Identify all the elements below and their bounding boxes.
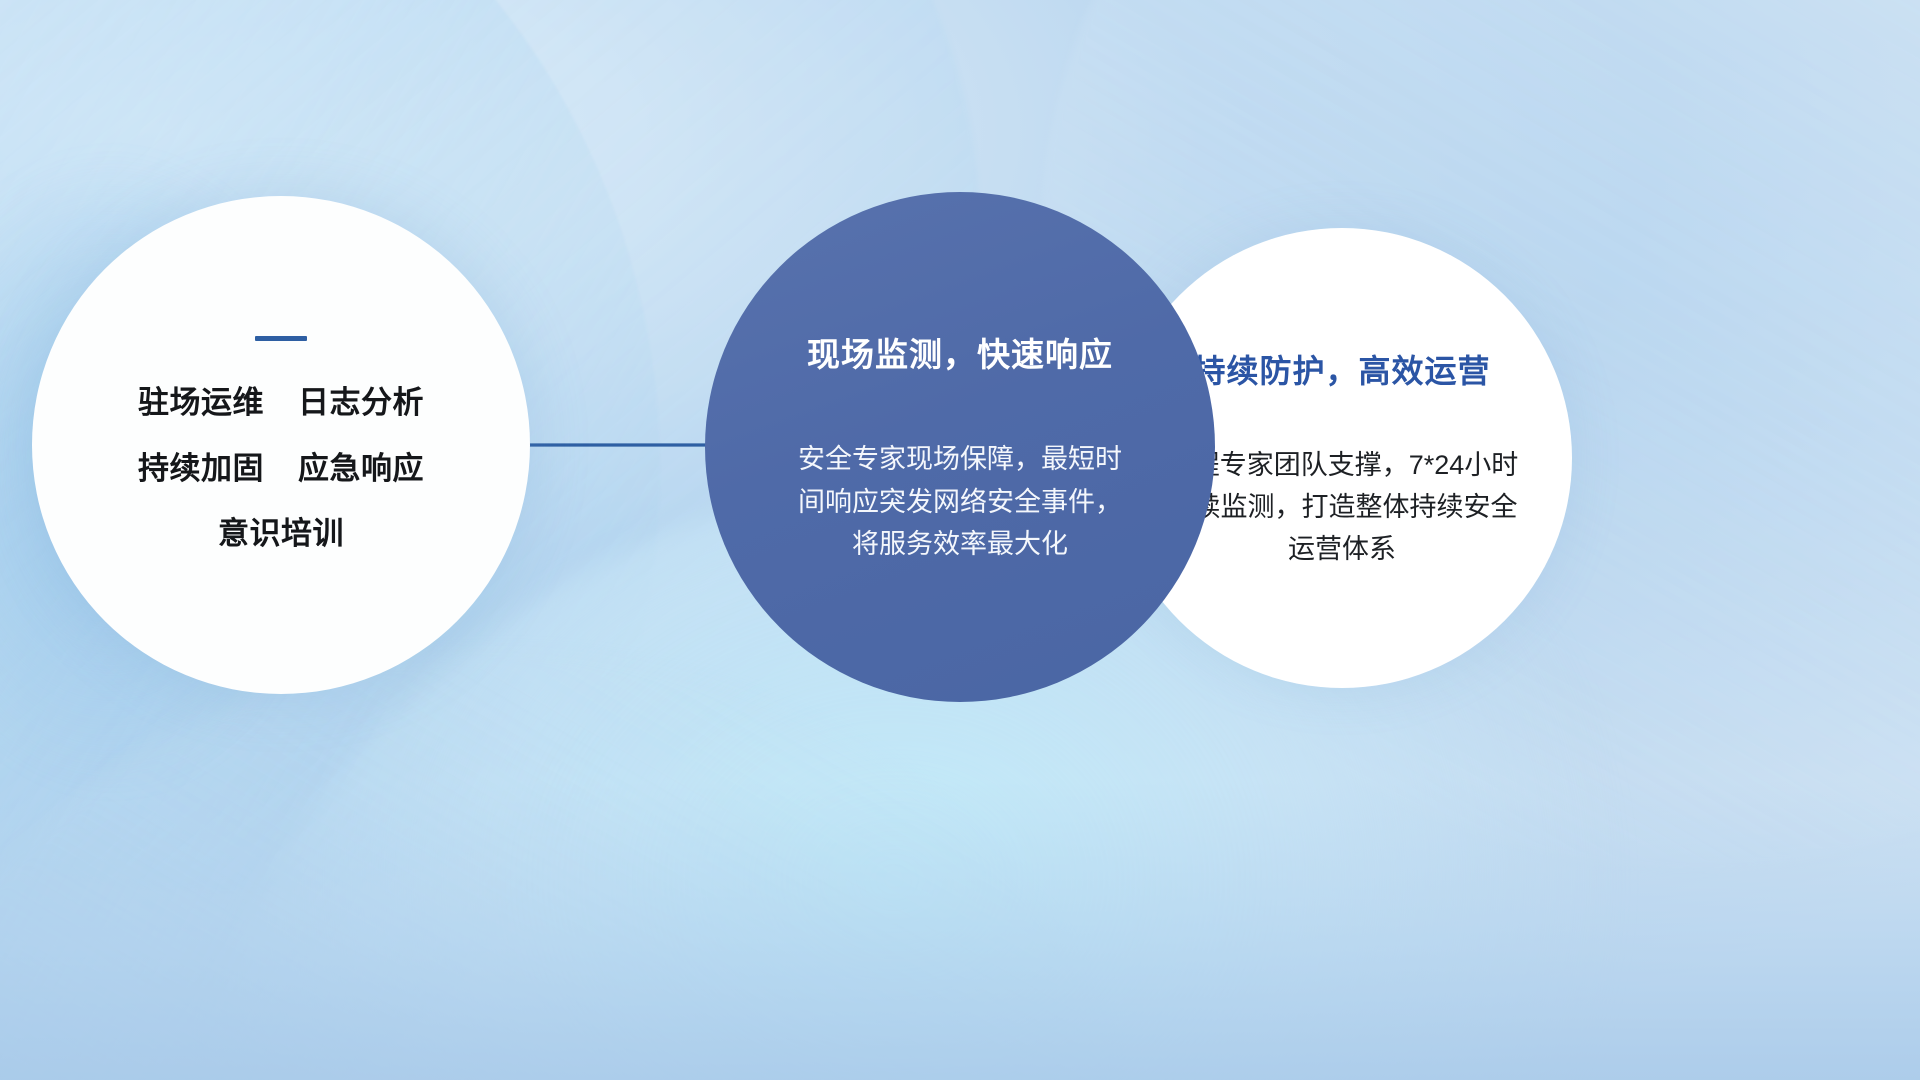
circle-onsite-monitoring[interactable]: 现场监测，快速响应 安全专家现场保障，最短时间响应突发网络安全事件，将服务效率最… — [705, 192, 1215, 702]
capability-tag: 驻场运维 — [138, 383, 264, 423]
capability-row-1: 驻场运维 日志分析 — [138, 383, 424, 423]
circle-title: 现场监测，快速响应 — [807, 328, 1113, 376]
circle-title: 持续防护，高效运营 — [1193, 346, 1490, 392]
capability-tag: 日志分析 — [298, 383, 424, 423]
capability-tag: 应急响应 — [298, 449, 424, 489]
capability-row-3: 意识培训 — [218, 514, 344, 554]
capability-row-2: 持续加固 应急响应 — [138, 449, 424, 489]
background-bottom-band — [0, 780, 1920, 1080]
capability-tag: 意识培训 — [218, 514, 344, 554]
circle-body: 安全专家现场保障，最短时间响应突发网络安全事件，将服务效率最大化 — [795, 438, 1125, 566]
title-divider — [255, 336, 307, 341]
circle-onsite-capabilities[interactable]: 驻场运维 日志分析 持续加固 应急响应 意识培训 — [32, 196, 530, 694]
capability-tag: 持续加固 — [138, 449, 264, 489]
